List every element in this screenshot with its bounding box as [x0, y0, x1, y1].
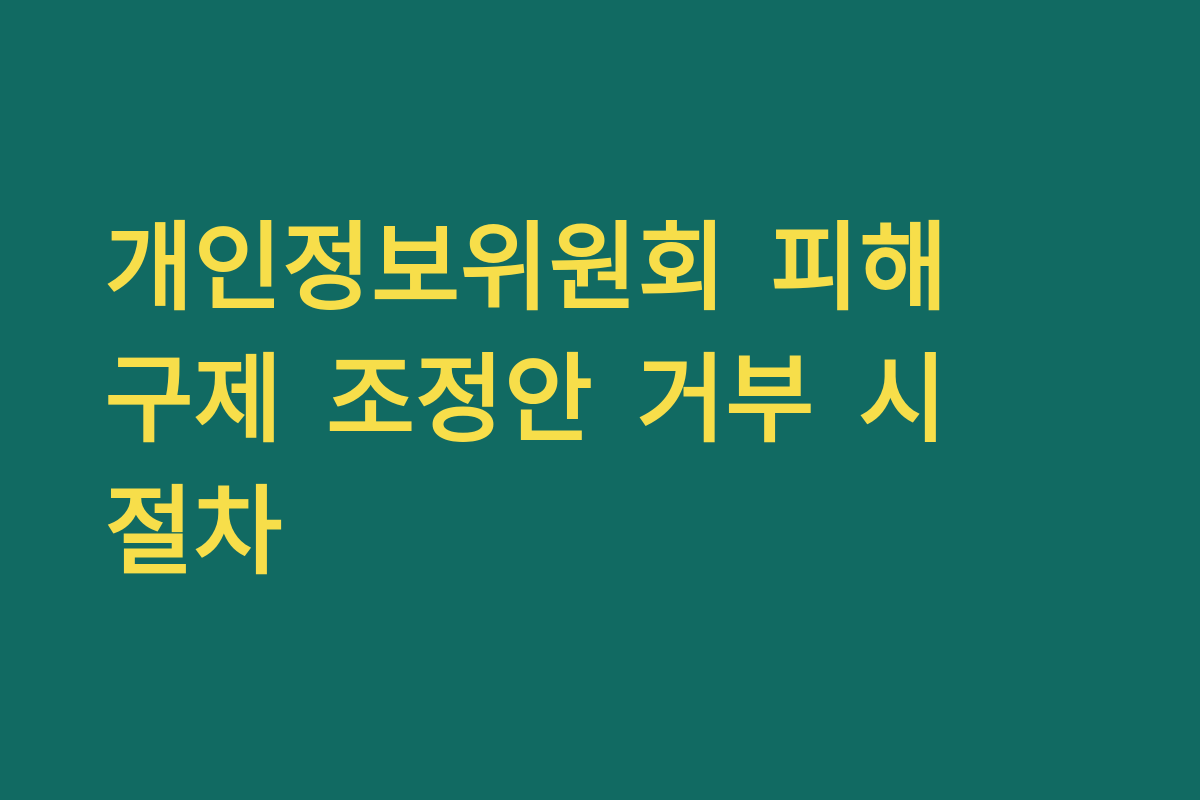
page-title: 개인정보위원회 피해 구제 조정안 거부 시 절차 — [105, 202, 1095, 598]
headline-block: 개인정보위원회 피해 구제 조정안 거부 시 절차 — [105, 202, 1095, 598]
banner-canvas: 개인정보위원회 피해 구제 조정안 거부 시 절차 — [0, 0, 1200, 800]
